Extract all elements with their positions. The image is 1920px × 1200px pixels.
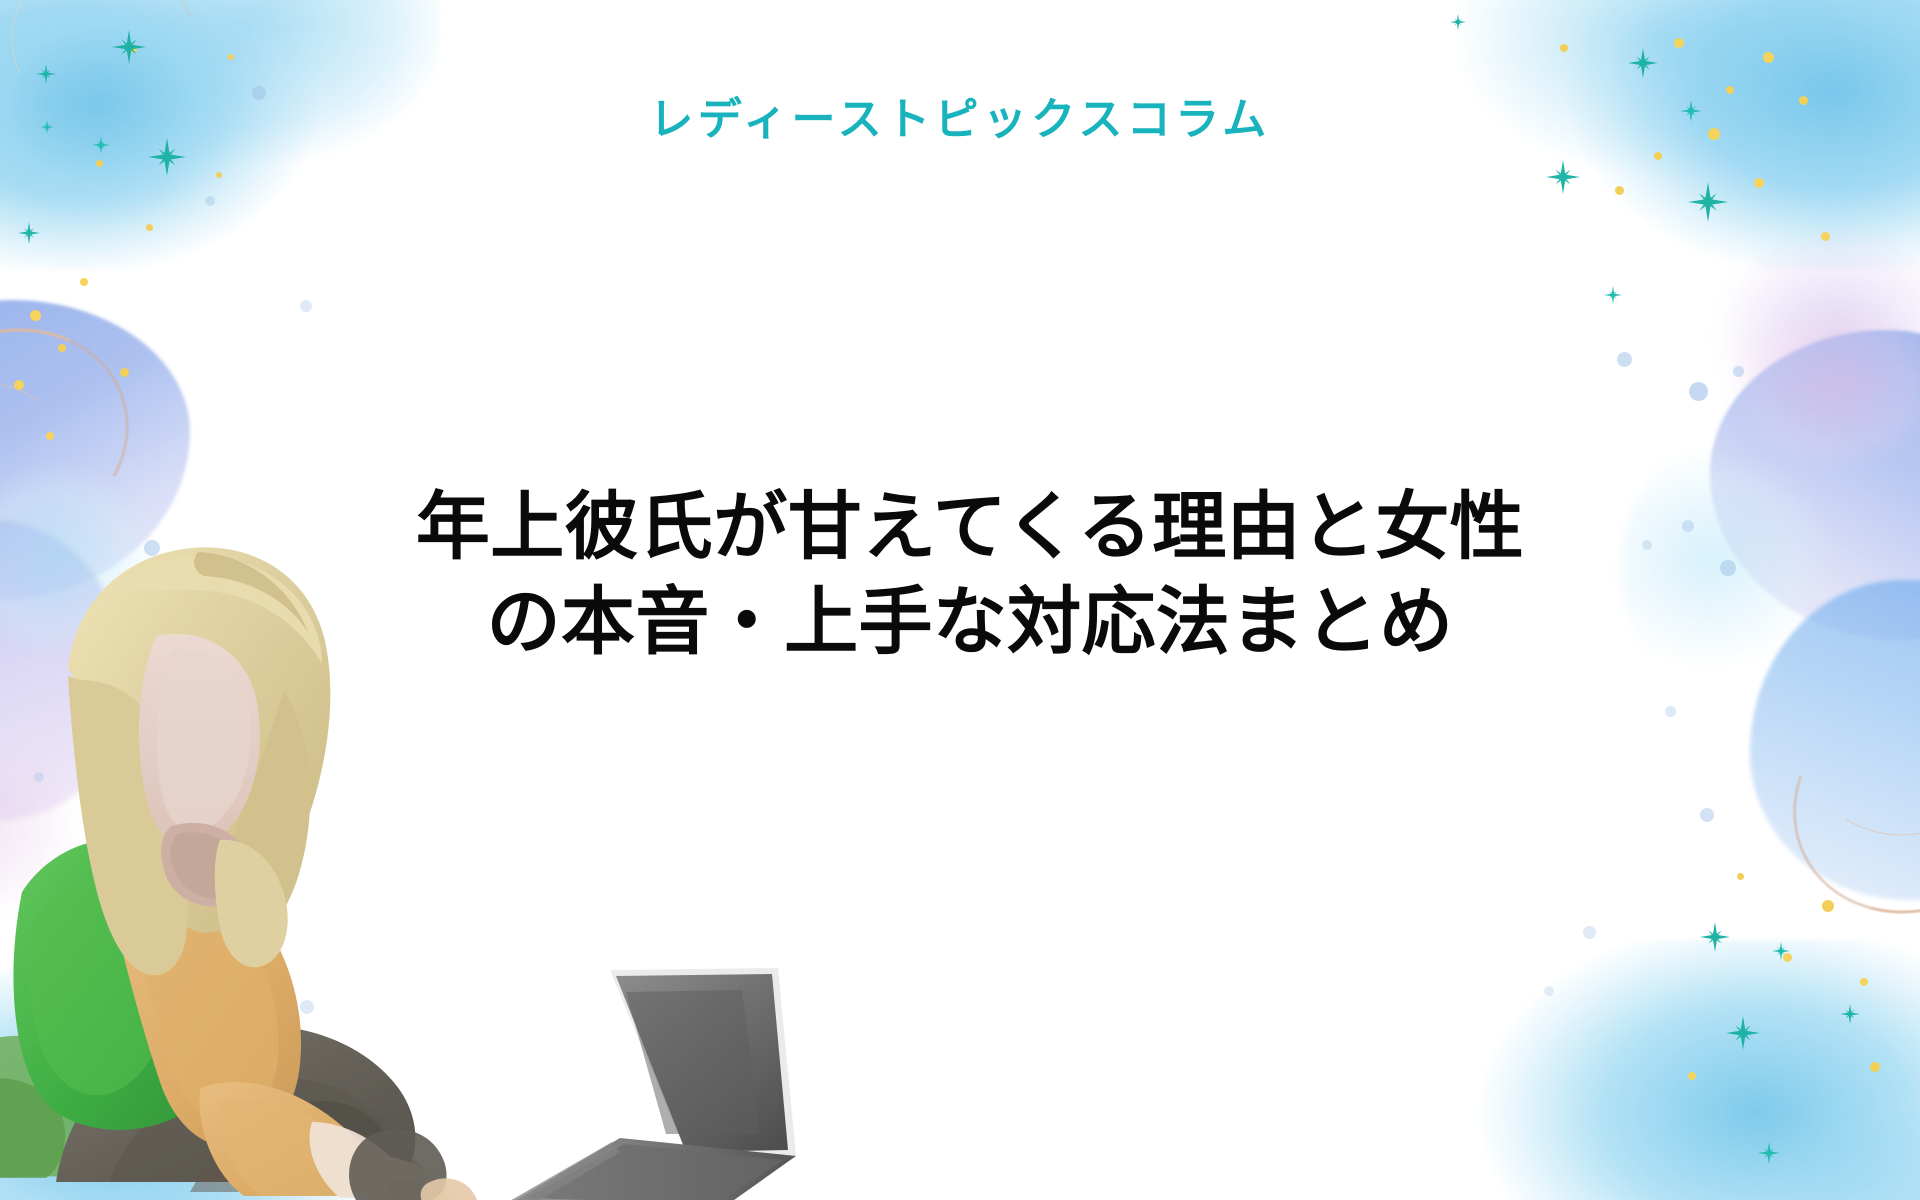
bubble-dot: [1720, 560, 1736, 576]
bubble-dot: [1583, 926, 1596, 939]
gold-dot: [1674, 38, 1684, 48]
bubble-dot: [1733, 366, 1744, 377]
page-title: 年上彼氏が甘えてくる理由と女性 の本音・上手な対応法まとめ: [330, 480, 1610, 669]
bubble-dot: [1689, 382, 1708, 401]
page-title-line-2: の本音・上手な対応法まとめ: [330, 575, 1610, 670]
sparkle-star-icon: [36, 64, 56, 84]
gold-dot: [120, 368, 129, 377]
gold-glitter-ring-right-1: [1753, 644, 1920, 956]
gold-glitter-ring-right-2: [1782, 620, 1920, 854]
gold-dot: [1783, 953, 1792, 962]
sparkle-star-icon: [1450, 14, 1466, 30]
bubble-dot: [1544, 986, 1554, 996]
sparkle-star-icon: [1758, 1142, 1780, 1164]
bubble-dot: [1617, 352, 1632, 367]
gold-dot: [46, 432, 54, 440]
gold-dot: [1754, 178, 1764, 188]
sparkle-star-icon: [1628, 48, 1658, 78]
gold-dot: [1615, 186, 1624, 195]
gold-dot: [146, 224, 153, 231]
watercolor-wash-top-right-lavender: [1640, 190, 1920, 490]
gold-dot: [1860, 978, 1868, 986]
gold-dot: [58, 344, 66, 352]
bubble-dot: [1700, 808, 1714, 822]
gold-dot: [1726, 86, 1734, 94]
watercolor-blob-right-2: [1750, 580, 1920, 900]
gold-dot: [1560, 44, 1568, 52]
poster-canvas: レディーストピックスコラム 年上彼氏が甘えてくる理由と女性 の本音・上手な対応法…: [0, 0, 1920, 1200]
sparkle-star-icon: [1840, 1004, 1860, 1024]
watercolor-blob-right-3: [1690, 270, 1920, 500]
watercolor-blob-right-4: [1620, 420, 1920, 720]
gold-dot: [96, 160, 103, 167]
laptop: [508, 968, 796, 1200]
gold-dot: [30, 310, 41, 321]
sparkle-star-icon: [1772, 942, 1790, 960]
eyebrow-label: レディーストピックスコラム: [0, 94, 1920, 147]
gold-dot: [1763, 52, 1774, 63]
bubble-dot: [205, 196, 215, 206]
bubble-dot: [1665, 706, 1676, 717]
gold-dot: [1688, 1072, 1696, 1080]
gold-dot: [1654, 152, 1662, 160]
gold-dot: [128, 44, 137, 53]
watercolor-blob-right-1: [1710, 330, 1920, 640]
sparkle-star-icon: [1688, 182, 1728, 222]
page-title-line-1: 年上彼氏が甘えてくる理由と女性: [330, 480, 1610, 575]
gold-dot: [1870, 1062, 1880, 1072]
gold-dot: [1822, 900, 1834, 912]
watercolor-wash-bottom-right: [1450, 940, 1920, 1200]
sparkle-star-icon: [1546, 160, 1580, 194]
gold-dot: [80, 278, 88, 286]
gold-dot: [1737, 873, 1744, 880]
bubble-dot: [1642, 540, 1652, 550]
gold-dot: [216, 172, 222, 178]
bubble-dot: [300, 300, 312, 312]
gold-dot: [14, 380, 24, 390]
sparkle-star-icon: [1604, 286, 1622, 304]
sparkle-star-icon: [112, 30, 146, 64]
sparkle-star-icon: [1726, 1016, 1760, 1050]
gold-dot: [1821, 232, 1830, 241]
bubble-dot: [1682, 520, 1694, 532]
sparkle-star-icon: [1700, 922, 1730, 952]
gold-dot: [228, 54, 234, 60]
sparkle-star-icon: [18, 222, 40, 244]
